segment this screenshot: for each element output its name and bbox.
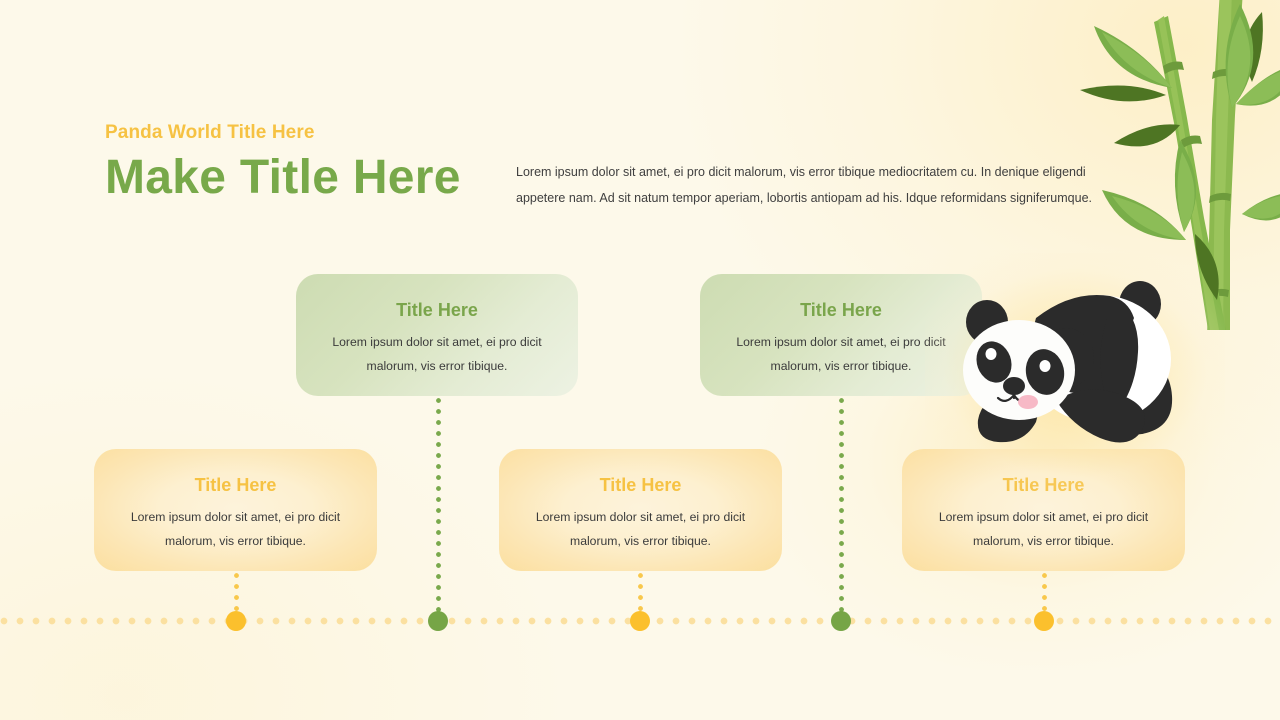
header-block: Panda World Title Here Make Title Here bbox=[105, 122, 525, 205]
timeline-node-5[interactable] bbox=[1034, 611, 1054, 631]
card-body: Lorem ipsum dolor sit amet, ei pro dicit… bbox=[296, 331, 578, 379]
connector-card-g1 bbox=[436, 398, 441, 614]
slide-canvas: Panda World Title Here Make Title Here L… bbox=[0, 0, 1280, 720]
timeline-node-4[interactable] bbox=[831, 611, 851, 631]
timeline-node-3[interactable] bbox=[630, 611, 650, 631]
card-body: Lorem ipsum dolor sit amet, ei pro dicit… bbox=[499, 506, 782, 554]
page-title: Make Title Here bbox=[105, 150, 525, 205]
card-yellow-2[interactable]: Title Here Lorem ipsum dolor sit amet, e… bbox=[499, 449, 782, 571]
connector-card-y1 bbox=[234, 573, 239, 615]
connector-card-y3 bbox=[1042, 573, 1047, 615]
card-yellow-1[interactable]: Title Here Lorem ipsum dolor sit amet, e… bbox=[94, 449, 377, 571]
card-body: Lorem ipsum dolor sit amet, ei pro dicit… bbox=[902, 506, 1185, 554]
card-body: Lorem ipsum dolor sit amet, ei pro dicit… bbox=[700, 331, 982, 379]
panda-icon bbox=[944, 276, 1184, 452]
timeline-node-1[interactable] bbox=[226, 611, 246, 631]
card-green-2[interactable]: Title Here Lorem ipsum dolor sit amet, e… bbox=[700, 274, 982, 396]
card-title: Title Here bbox=[499, 475, 782, 496]
card-green-1[interactable]: Title Here Lorem ipsum dolor sit amet, e… bbox=[296, 274, 578, 396]
card-title: Title Here bbox=[902, 475, 1185, 496]
eyebrow-text: Panda World Title Here bbox=[105, 122, 525, 144]
connector-card-y2 bbox=[638, 573, 643, 615]
connector-card-g2 bbox=[839, 398, 844, 614]
timeline-node-2[interactable] bbox=[428, 611, 448, 631]
card-body: Lorem ipsum dolor sit amet, ei pro dicit… bbox=[94, 506, 377, 554]
card-title: Title Here bbox=[94, 475, 377, 496]
card-yellow-3[interactable]: Title Here Lorem ipsum dolor sit amet, e… bbox=[902, 449, 1185, 571]
intro-paragraph: Lorem ipsum dolor sit amet, ei pro dicit… bbox=[516, 159, 1096, 213]
card-title: Title Here bbox=[700, 300, 982, 321]
card-title: Title Here bbox=[296, 300, 578, 321]
